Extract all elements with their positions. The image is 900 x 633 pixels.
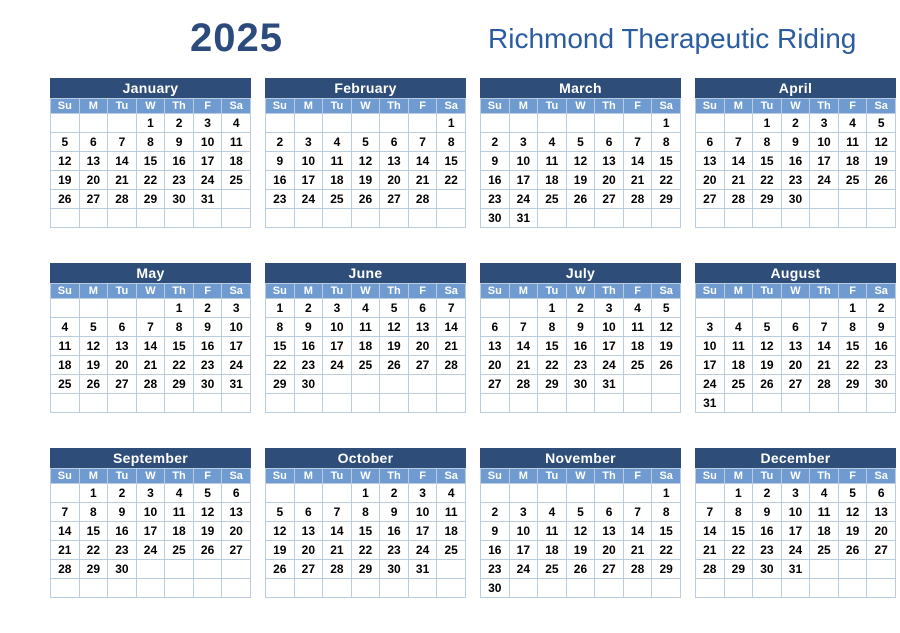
day-cell[interactable]: 2 xyxy=(481,503,509,521)
day-cell[interactable]: 4 xyxy=(538,133,566,151)
day-cell[interactable]: 14 xyxy=(810,337,838,355)
day-cell[interactable]: 26 xyxy=(567,560,595,578)
day-cell[interactable]: 14 xyxy=(696,522,724,540)
day-cell[interactable]: 2 xyxy=(782,114,810,132)
day-cell[interactable]: 22 xyxy=(753,171,781,189)
day-cell[interactable]: 24 xyxy=(595,356,623,374)
day-cell[interactable]: 12 xyxy=(352,152,380,170)
day-cell[interactable]: 26 xyxy=(839,541,867,559)
day-cell[interactable]: 11 xyxy=(538,522,566,540)
day-cell[interactable]: 30 xyxy=(481,209,509,227)
day-cell[interactable]: 3 xyxy=(295,133,323,151)
day-cell[interactable]: 30 xyxy=(108,560,136,578)
day-cell[interactable]: 20 xyxy=(481,356,509,374)
day-cell[interactable]: 30 xyxy=(753,560,781,578)
day-cell[interactable]: 14 xyxy=(409,152,437,170)
day-cell[interactable]: 23 xyxy=(753,541,781,559)
day-cell[interactable]: 5 xyxy=(51,133,79,151)
day-cell[interactable]: 26 xyxy=(51,190,79,208)
day-cell[interactable]: 30 xyxy=(194,375,222,393)
day-cell[interactable]: 16 xyxy=(753,522,781,540)
day-cell[interactable]: 7 xyxy=(108,133,136,151)
day-cell[interactable]: 23 xyxy=(481,560,509,578)
day-cell[interactable]: 27 xyxy=(595,190,623,208)
day-cell[interactable]: 31 xyxy=(782,560,810,578)
day-cell[interactable]: 13 xyxy=(481,337,509,355)
day-cell[interactable]: 24 xyxy=(137,541,165,559)
day-cell[interactable]: 3 xyxy=(323,299,351,317)
day-cell[interactable]: 1 xyxy=(137,114,165,132)
day-cell[interactable]: 21 xyxy=(409,171,437,189)
day-cell[interactable]: 20 xyxy=(380,171,408,189)
day-cell[interactable]: 7 xyxy=(696,503,724,521)
day-cell[interactable]: 13 xyxy=(867,503,895,521)
day-cell[interactable]: 20 xyxy=(595,541,623,559)
day-cell[interactable]: 6 xyxy=(481,318,509,336)
day-cell[interactable]: 17 xyxy=(194,152,222,170)
day-cell[interactable]: 17 xyxy=(595,337,623,355)
day-cell[interactable]: 5 xyxy=(839,484,867,502)
day-cell[interactable]: 12 xyxy=(380,318,408,336)
day-cell[interactable]: 19 xyxy=(194,522,222,540)
day-cell[interactable]: 2 xyxy=(295,299,323,317)
day-cell[interactable]: 2 xyxy=(481,133,509,151)
day-cell[interactable]: 29 xyxy=(725,560,753,578)
day-cell[interactable]: 9 xyxy=(481,152,509,170)
day-cell[interactable]: 26 xyxy=(352,190,380,208)
day-cell[interactable]: 9 xyxy=(753,503,781,521)
day-cell[interactable]: 21 xyxy=(108,171,136,189)
day-cell[interactable]: 20 xyxy=(782,356,810,374)
day-cell[interactable]: 30 xyxy=(295,375,323,393)
day-cell[interactable]: 2 xyxy=(108,484,136,502)
day-cell[interactable]: 3 xyxy=(409,484,437,502)
day-cell[interactable]: 28 xyxy=(624,560,652,578)
day-cell[interactable]: 31 xyxy=(194,190,222,208)
day-cell[interactable]: 10 xyxy=(194,133,222,151)
day-cell[interactable]: 13 xyxy=(696,152,724,170)
day-cell[interactable]: 24 xyxy=(323,356,351,374)
day-cell[interactable]: 20 xyxy=(80,171,108,189)
day-cell[interactable]: 10 xyxy=(510,522,538,540)
day-cell[interactable]: 1 xyxy=(753,114,781,132)
day-cell[interactable]: 19 xyxy=(352,171,380,189)
day-cell[interactable]: 22 xyxy=(80,541,108,559)
day-cell[interactable]: 12 xyxy=(753,337,781,355)
day-cell[interactable]: 30 xyxy=(567,375,595,393)
day-cell[interactable]: 6 xyxy=(80,133,108,151)
day-cell[interactable]: 25 xyxy=(51,375,79,393)
day-cell[interactable]: 29 xyxy=(266,375,294,393)
day-cell[interactable]: 20 xyxy=(295,541,323,559)
day-cell[interactable]: 21 xyxy=(696,541,724,559)
day-cell[interactable]: 9 xyxy=(194,318,222,336)
day-cell[interactable]: 21 xyxy=(51,541,79,559)
day-cell[interactable]: 25 xyxy=(624,356,652,374)
day-cell[interactable]: 5 xyxy=(380,299,408,317)
day-cell[interactable]: 17 xyxy=(295,171,323,189)
day-cell[interactable]: 29 xyxy=(538,375,566,393)
day-cell[interactable]: 13 xyxy=(782,337,810,355)
day-cell[interactable]: 27 xyxy=(80,190,108,208)
day-cell[interactable]: 24 xyxy=(510,190,538,208)
day-cell[interactable]: 7 xyxy=(137,318,165,336)
day-cell[interactable]: 16 xyxy=(481,541,509,559)
day-cell[interactable]: 3 xyxy=(810,114,838,132)
day-cell[interactable]: 27 xyxy=(380,190,408,208)
day-cell[interactable]: 10 xyxy=(810,133,838,151)
day-cell[interactable]: 23 xyxy=(567,356,595,374)
day-cell[interactable]: 4 xyxy=(323,133,351,151)
day-cell[interactable]: 24 xyxy=(782,541,810,559)
day-cell[interactable]: 23 xyxy=(380,541,408,559)
day-cell[interactable]: 9 xyxy=(266,152,294,170)
day-cell[interactable]: 8 xyxy=(137,133,165,151)
day-cell[interactable]: 16 xyxy=(266,171,294,189)
day-cell[interactable]: 9 xyxy=(782,133,810,151)
day-cell[interactable]: 14 xyxy=(108,152,136,170)
day-cell[interactable]: 24 xyxy=(696,375,724,393)
day-cell[interactable]: 4 xyxy=(810,484,838,502)
day-cell[interactable]: 9 xyxy=(867,318,895,336)
day-cell[interactable]: 25 xyxy=(725,375,753,393)
day-cell[interactable]: 13 xyxy=(595,522,623,540)
day-cell[interactable]: 11 xyxy=(51,337,79,355)
day-cell[interactable]: 20 xyxy=(867,522,895,540)
day-cell[interactable]: 10 xyxy=(409,503,437,521)
day-cell[interactable]: 29 xyxy=(80,560,108,578)
day-cell[interactable]: 7 xyxy=(624,503,652,521)
day-cell[interactable]: 5 xyxy=(867,114,895,132)
day-cell[interactable]: 2 xyxy=(165,114,193,132)
day-cell[interactable]: 26 xyxy=(194,541,222,559)
day-cell[interactable]: 12 xyxy=(839,503,867,521)
day-cell[interactable]: 15 xyxy=(753,152,781,170)
day-cell[interactable]: 18 xyxy=(51,356,79,374)
day-cell[interactable]: 9 xyxy=(481,522,509,540)
day-cell[interactable]: 14 xyxy=(51,522,79,540)
day-cell[interactable]: 30 xyxy=(867,375,895,393)
day-cell[interactable]: 17 xyxy=(810,152,838,170)
day-cell[interactable]: 14 xyxy=(323,522,351,540)
day-cell[interactable]: 14 xyxy=(624,152,652,170)
day-cell[interactable]: 15 xyxy=(165,337,193,355)
day-cell[interactable]: 12 xyxy=(567,152,595,170)
day-cell[interactable]: 20 xyxy=(409,337,437,355)
day-cell[interactable]: 21 xyxy=(510,356,538,374)
day-cell[interactable]: 26 xyxy=(266,560,294,578)
day-cell[interactable]: 26 xyxy=(80,375,108,393)
day-cell[interactable]: 14 xyxy=(725,152,753,170)
day-cell[interactable]: 19 xyxy=(839,522,867,540)
day-cell[interactable]: 13 xyxy=(295,522,323,540)
day-cell[interactable]: 8 xyxy=(80,503,108,521)
day-cell[interactable]: 22 xyxy=(538,356,566,374)
day-cell[interactable]: 2 xyxy=(194,299,222,317)
day-cell[interactable]: 23 xyxy=(165,171,193,189)
day-cell[interactable]: 23 xyxy=(266,190,294,208)
day-cell[interactable]: 11 xyxy=(839,133,867,151)
day-cell[interactable]: 14 xyxy=(624,522,652,540)
day-cell[interactable]: 31 xyxy=(595,375,623,393)
day-cell[interactable]: 1 xyxy=(165,299,193,317)
day-cell[interactable]: 25 xyxy=(839,171,867,189)
day-cell[interactable]: 15 xyxy=(538,337,566,355)
day-cell[interactable]: 10 xyxy=(595,318,623,336)
day-cell[interactable]: 27 xyxy=(782,375,810,393)
day-cell[interactable]: 16 xyxy=(380,522,408,540)
day-cell[interactable]: 11 xyxy=(165,503,193,521)
day-cell[interactable]: 28 xyxy=(51,560,79,578)
day-cell[interactable]: 22 xyxy=(266,356,294,374)
day-cell[interactable]: 16 xyxy=(567,337,595,355)
day-cell[interactable]: 30 xyxy=(481,579,509,597)
day-cell[interactable]: 3 xyxy=(510,133,538,151)
day-cell[interactable]: 9 xyxy=(567,318,595,336)
day-cell[interactable]: 25 xyxy=(352,356,380,374)
day-cell[interactable]: 5 xyxy=(194,484,222,502)
day-cell[interactable]: 1 xyxy=(352,484,380,502)
day-cell[interactable]: 24 xyxy=(409,541,437,559)
day-cell[interactable]: 14 xyxy=(510,337,538,355)
day-cell[interactable]: 11 xyxy=(538,152,566,170)
day-cell[interactable]: 24 xyxy=(810,171,838,189)
day-cell[interactable]: 7 xyxy=(51,503,79,521)
day-cell[interactable]: 27 xyxy=(867,541,895,559)
day-cell[interactable]: 19 xyxy=(867,152,895,170)
day-cell[interactable]: 5 xyxy=(567,133,595,151)
day-cell[interactable]: 21 xyxy=(137,356,165,374)
day-cell[interactable]: 29 xyxy=(165,375,193,393)
day-cell[interactable]: 13 xyxy=(409,318,437,336)
day-cell[interactable]: 28 xyxy=(510,375,538,393)
day-cell[interactable]: 5 xyxy=(753,318,781,336)
day-cell[interactable]: 16 xyxy=(165,152,193,170)
day-cell[interactable]: 7 xyxy=(725,133,753,151)
day-cell[interactable]: 10 xyxy=(137,503,165,521)
day-cell[interactable]: 1 xyxy=(80,484,108,502)
day-cell[interactable]: 23 xyxy=(295,356,323,374)
day-cell[interactable]: 4 xyxy=(538,503,566,521)
day-cell[interactable]: 22 xyxy=(137,171,165,189)
day-cell[interactable]: 26 xyxy=(380,356,408,374)
day-cell[interactable]: 26 xyxy=(753,375,781,393)
day-cell[interactable]: 28 xyxy=(810,375,838,393)
day-cell[interactable]: 26 xyxy=(567,190,595,208)
day-cell[interactable]: 3 xyxy=(194,114,222,132)
day-cell[interactable]: 22 xyxy=(165,356,193,374)
day-cell[interactable]: 4 xyxy=(624,299,652,317)
day-cell[interactable]: 16 xyxy=(108,522,136,540)
day-cell[interactable]: 18 xyxy=(323,171,351,189)
day-cell[interactable]: 1 xyxy=(266,299,294,317)
day-cell[interactable]: 28 xyxy=(696,560,724,578)
day-cell[interactable]: 12 xyxy=(194,503,222,521)
day-cell[interactable]: 11 xyxy=(725,337,753,355)
day-cell[interactable]: 4 xyxy=(725,318,753,336)
day-cell[interactable]: 18 xyxy=(538,541,566,559)
day-cell[interactable]: 5 xyxy=(266,503,294,521)
day-cell[interactable]: 6 xyxy=(867,484,895,502)
day-cell[interactable]: 30 xyxy=(165,190,193,208)
day-cell[interactable]: 6 xyxy=(380,133,408,151)
day-cell[interactable]: 8 xyxy=(352,503,380,521)
day-cell[interactable]: 27 xyxy=(295,560,323,578)
day-cell[interactable]: 7 xyxy=(810,318,838,336)
day-cell[interactable]: 28 xyxy=(137,375,165,393)
day-cell[interactable]: 2 xyxy=(753,484,781,502)
day-cell[interactable]: 18 xyxy=(165,522,193,540)
day-cell[interactable]: 3 xyxy=(137,484,165,502)
day-cell[interactable]: 21 xyxy=(810,356,838,374)
day-cell[interactable]: 25 xyxy=(538,190,566,208)
day-cell[interactable]: 9 xyxy=(380,503,408,521)
day-cell[interactable]: 15 xyxy=(137,152,165,170)
day-cell[interactable]: 28 xyxy=(725,190,753,208)
day-cell[interactable]: 5 xyxy=(80,318,108,336)
day-cell[interactable]: 25 xyxy=(323,190,351,208)
day-cell[interactable]: 12 xyxy=(51,152,79,170)
day-cell[interactable]: 10 xyxy=(782,503,810,521)
day-cell[interactable]: 7 xyxy=(510,318,538,336)
day-cell[interactable]: 21 xyxy=(624,171,652,189)
day-cell[interactable]: 29 xyxy=(753,190,781,208)
day-cell[interactable]: 11 xyxy=(323,152,351,170)
day-cell[interactable]: 10 xyxy=(696,337,724,355)
day-cell[interactable]: 8 xyxy=(538,318,566,336)
day-cell[interactable]: 17 xyxy=(323,337,351,355)
day-cell[interactable]: 4 xyxy=(839,114,867,132)
day-cell[interactable]: 19 xyxy=(380,337,408,355)
day-cell[interactable]: 2 xyxy=(266,133,294,151)
day-cell[interactable]: 4 xyxy=(51,318,79,336)
day-cell[interactable]: 23 xyxy=(782,171,810,189)
day-cell[interactable]: 14 xyxy=(137,337,165,355)
day-cell[interactable]: 6 xyxy=(696,133,724,151)
day-cell[interactable]: 11 xyxy=(810,503,838,521)
day-cell[interactable]: 15 xyxy=(80,522,108,540)
day-cell[interactable]: 1 xyxy=(839,299,867,317)
day-cell[interactable]: 18 xyxy=(725,356,753,374)
day-cell[interactable]: 12 xyxy=(80,337,108,355)
day-cell[interactable]: 18 xyxy=(839,152,867,170)
day-cell[interactable]: 16 xyxy=(295,337,323,355)
day-cell[interactable]: 8 xyxy=(839,318,867,336)
day-cell[interactable]: 27 xyxy=(108,375,136,393)
day-cell[interactable]: 20 xyxy=(696,171,724,189)
day-cell[interactable]: 6 xyxy=(782,318,810,336)
day-cell[interactable]: 8 xyxy=(266,318,294,336)
day-cell[interactable]: 3 xyxy=(696,318,724,336)
day-cell[interactable]: 8 xyxy=(725,503,753,521)
day-cell[interactable]: 13 xyxy=(380,152,408,170)
day-cell[interactable]: 19 xyxy=(753,356,781,374)
day-cell[interactable]: 15 xyxy=(839,337,867,355)
day-cell[interactable]: 18 xyxy=(352,337,380,355)
day-cell[interactable]: 28 xyxy=(409,190,437,208)
day-cell[interactable]: 13 xyxy=(595,152,623,170)
day-cell[interactable]: 18 xyxy=(810,522,838,540)
day-cell[interactable]: 10 xyxy=(295,152,323,170)
day-cell[interactable]: 15 xyxy=(266,337,294,355)
day-cell[interactable]: 4 xyxy=(352,299,380,317)
day-cell[interactable]: 28 xyxy=(323,560,351,578)
day-cell[interactable]: 11 xyxy=(624,318,652,336)
day-cell[interactable]: 25 xyxy=(165,541,193,559)
day-cell[interactable]: 29 xyxy=(839,375,867,393)
day-cell[interactable]: 23 xyxy=(867,356,895,374)
day-cell[interactable]: 7 xyxy=(409,133,437,151)
day-cell[interactable]: 27 xyxy=(481,375,509,393)
day-cell[interactable]: 17 xyxy=(510,541,538,559)
day-cell[interactable]: 28 xyxy=(624,190,652,208)
day-cell[interactable]: 5 xyxy=(567,503,595,521)
day-cell[interactable]: 1 xyxy=(725,484,753,502)
day-cell[interactable]: 31 xyxy=(409,560,437,578)
day-cell[interactable]: 30 xyxy=(380,560,408,578)
day-cell[interactable]: 3 xyxy=(510,503,538,521)
day-cell[interactable]: 12 xyxy=(266,522,294,540)
day-cell[interactable]: 15 xyxy=(725,522,753,540)
day-cell[interactable]: 1 xyxy=(538,299,566,317)
day-cell[interactable]: 27 xyxy=(409,356,437,374)
day-cell[interactable]: 26 xyxy=(867,171,895,189)
day-cell[interactable]: 16 xyxy=(782,152,810,170)
day-cell[interactable]: 18 xyxy=(538,171,566,189)
day-cell[interactable]: 20 xyxy=(108,356,136,374)
day-cell[interactable]: 10 xyxy=(510,152,538,170)
day-cell[interactable]: 11 xyxy=(352,318,380,336)
day-cell[interactable]: 17 xyxy=(696,356,724,374)
day-cell[interactable]: 7 xyxy=(624,133,652,151)
day-cell[interactable]: 17 xyxy=(782,522,810,540)
day-cell[interactable]: 31 xyxy=(510,209,538,227)
day-cell[interactable]: 10 xyxy=(323,318,351,336)
day-cell[interactable]: 2 xyxy=(567,299,595,317)
day-cell[interactable]: 19 xyxy=(266,541,294,559)
day-cell[interactable]: 6 xyxy=(595,503,623,521)
day-cell[interactable]: 16 xyxy=(481,171,509,189)
day-cell[interactable]: 8 xyxy=(753,133,781,151)
day-cell[interactable]: 23 xyxy=(481,190,509,208)
day-cell[interactable]: 17 xyxy=(409,522,437,540)
day-cell[interactable]: 29 xyxy=(352,560,380,578)
day-cell[interactable]: 20 xyxy=(595,171,623,189)
day-cell[interactable]: 31 xyxy=(696,394,724,412)
day-cell[interactable]: 17 xyxy=(137,522,165,540)
day-cell[interactable]: 24 xyxy=(510,560,538,578)
day-cell[interactable]: 6 xyxy=(595,133,623,151)
day-cell[interactable]: 3 xyxy=(782,484,810,502)
day-cell[interactable]: 2 xyxy=(380,484,408,502)
day-cell[interactable]: 24 xyxy=(295,190,323,208)
day-cell[interactable]: 19 xyxy=(80,356,108,374)
day-cell[interactable]: 29 xyxy=(137,190,165,208)
day-cell[interactable]: 30 xyxy=(782,190,810,208)
day-cell[interactable]: 27 xyxy=(595,560,623,578)
day-cell[interactable]: 22 xyxy=(352,541,380,559)
day-cell[interactable]: 19 xyxy=(51,171,79,189)
day-cell[interactable]: 17 xyxy=(510,171,538,189)
day-cell[interactable]: 3 xyxy=(595,299,623,317)
day-cell[interactable]: 23 xyxy=(194,356,222,374)
day-cell[interactable]: 25 xyxy=(810,541,838,559)
day-cell[interactable]: 19 xyxy=(567,541,595,559)
day-cell[interactable]: 9 xyxy=(165,133,193,151)
day-cell[interactable]: 25 xyxy=(538,560,566,578)
day-cell[interactable]: 23 xyxy=(108,541,136,559)
day-cell[interactable]: 9 xyxy=(295,318,323,336)
